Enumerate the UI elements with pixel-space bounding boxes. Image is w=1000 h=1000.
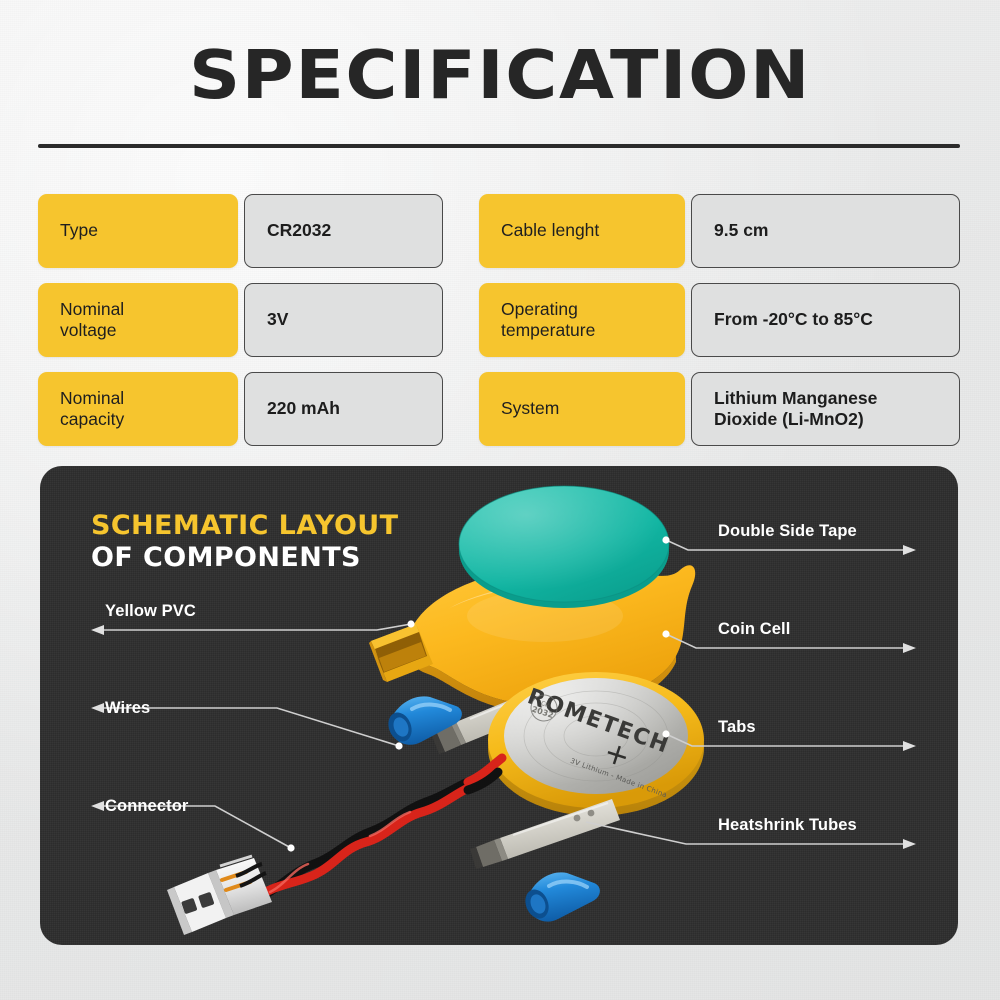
callout-tabs: Tabs [666,702,916,752]
leader-anchor-dot [662,630,669,637]
spec-row: Nominalvoltage 3V [38,283,443,357]
specification-table: Type CR2032 Nominalvoltage 3V Nominalcap… [38,194,960,446]
spec-row: Nominalcapacity 220 mAh [38,372,443,446]
leader-line-tabs [666,702,916,752]
leader-line-connector [91,782,421,862]
callout-double-side-tape: Double Side Tape [666,506,916,556]
callout-yellow-pvc: Yellow PVC [91,586,421,636]
leader-arrow-right-icon [903,839,916,849]
title-divider [38,144,960,148]
spec-value-system: Lithium ManganeseDioxide (Li-MnO2) [691,372,960,446]
spec-row: Cable lenght 9.5 cm [479,194,960,268]
spec-value-type: CR2032 [244,194,443,268]
callout-label-double-side-tape: Double Side Tape [718,522,857,541]
schematic-panel: SCHEMATIC LAYOUT OF COMPONENTS [40,466,958,945]
callout-label-yellow-pvc: Yellow PVC [105,602,196,621]
leader-anchor-dot [662,536,669,543]
spec-column-right: Cable lenght 9.5 cm Operatingtemperature… [479,194,960,446]
spec-key-system: System [479,372,685,446]
page-title: SPECIFICATION [0,42,1000,109]
connector [167,856,272,935]
spec-value-nominal-capacity: 220 mAh [244,372,443,446]
callout-label-connector: Connector [105,797,188,816]
leader-arrow-right-icon [903,741,916,751]
leader-anchor-dot [287,844,294,851]
spec-row: System Lithium ManganeseDioxide (Li-MnO2… [479,372,960,446]
leader-arrow-left-icon [91,801,104,811]
callout-label-tabs: Tabs [718,718,756,737]
leader-anchor-dot [395,742,402,749]
leader-arrow-right-icon [903,643,916,653]
spec-value-cable-length: 9.5 cm [691,194,960,268]
double-side-tape [459,486,669,608]
callout-heatshrink-tubes: Heatshrink Tubes [666,800,916,850]
callout-wires: Wires [91,684,421,764]
spec-value-nominal-voltage: 3V [244,283,443,357]
spec-row: Operatingtemperature From -20°C to 85°C [479,283,960,357]
leader-line-wires [91,684,421,764]
spec-column-left: Type CR2032 Nominalvoltage 3V Nominalcap… [38,194,443,446]
callout-label-heatshrink-tubes: Heatshrink Tubes [718,816,857,835]
leader-anchor-dot [407,620,414,627]
leader-arrow-left-icon [91,703,104,713]
leader-arrow-left-icon [91,625,104,635]
battery-tab-lower [470,799,620,869]
callout-connector: Connector [91,782,421,862]
spec-key-type: Type [38,194,238,268]
spec-key-cable-length: Cable lenght [479,194,685,268]
spec-key-operating-temperature: Operatingtemperature [479,283,685,357]
callout-coin-cell: Coin Cell [666,604,916,654]
leader-anchor-dot [662,730,669,737]
spec-key-nominal-capacity: Nominalcapacity [38,372,238,446]
spec-value-operating-temperature: From -20°C to 85°C [691,283,960,357]
leader-line-coin-cell [666,604,916,654]
callout-label-wires: Wires [105,699,150,718]
spec-row: Type CR2032 [38,194,443,268]
leader-arrow-right-icon [903,545,916,555]
heatshrink-tube-lower [521,872,600,922]
callout-label-coin-cell: Coin Cell [718,620,790,639]
spec-key-nominal-voltage: Nominalvoltage [38,283,238,357]
